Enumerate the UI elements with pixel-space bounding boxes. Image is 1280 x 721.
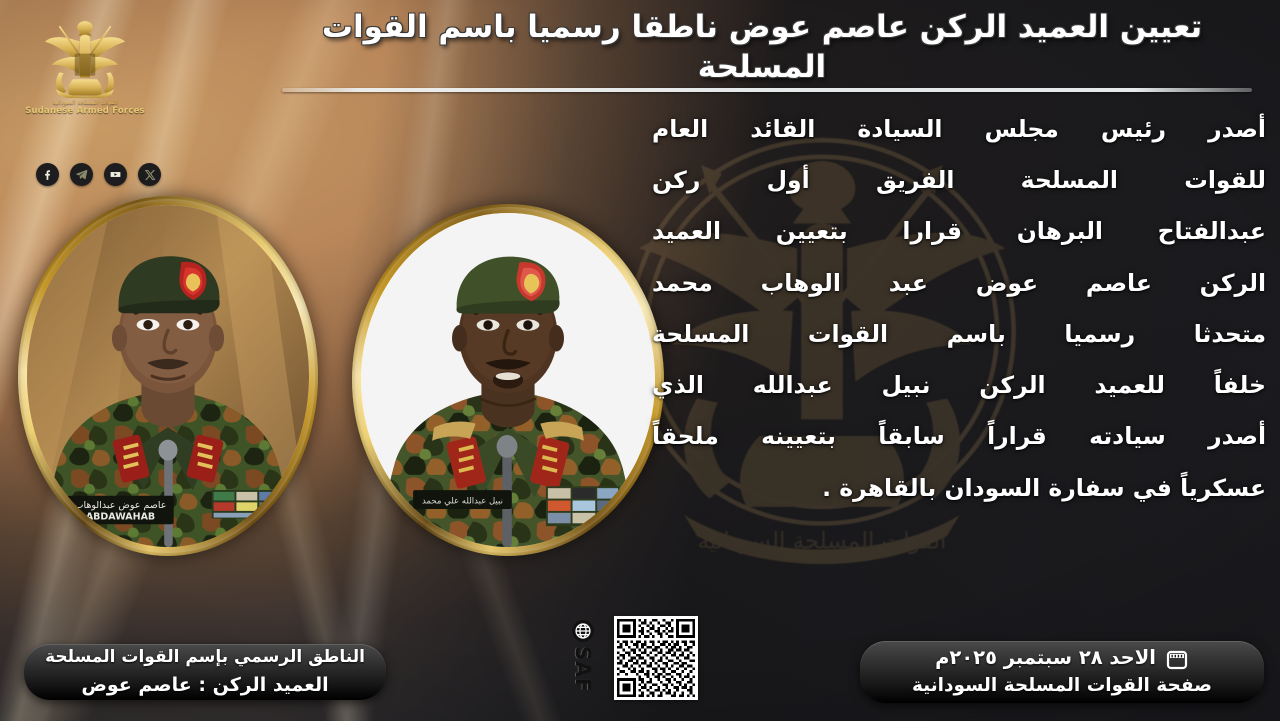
announcement-card: القوات المسلحة السودانية <box>0 0 1280 721</box>
spokesman-title: الناطق الرسمي بإسم القوات المسلحة <box>45 645 365 671</box>
body-line: عبدالفتاح البرهان قرارا بتعيين العميد <box>652 206 1266 257</box>
spokesman-name: العميد الركن : عاصم عوض <box>81 671 328 700</box>
publication-date: الاحد ٢٨ سبتمبر ٢٠٢٥م <box>935 644 1156 672</box>
headline-text: تعيين العميد الركن عاصم عوض ناطقا رسميا … <box>322 9 1202 85</box>
social-links <box>36 163 161 186</box>
body-line: أصدر سيادته قراراً سابقاً بتعيينه ملحقاً <box>652 411 1266 462</box>
saf-crest: القوات المسلحة السودانية Sudanese Armed … <box>24 16 146 128</box>
date-plaque: الاحد ٢٨ سبتمبر ٢٠٢٥م صفحة القوات المسلح… <box>860 641 1264 703</box>
body-line: متحدثا رسميا باسم القوات المسلحة <box>652 309 1266 360</box>
svg-text:ABDAWAHAB: ABDAWAHAB <box>86 511 155 522</box>
calendar-icon <box>1165 647 1189 671</box>
globe-icon <box>570 618 596 644</box>
qr-block: SAF <box>570 616 698 700</box>
crest-english-label: Sudanese Armed Forces <box>24 106 146 116</box>
officer-photo-left: عاصم عوض عبدالوهاب ABDAWAHAB <box>27 205 309 547</box>
x-twitter-icon[interactable] <box>138 163 161 186</box>
saf-web-mark: SAF <box>570 618 596 693</box>
saf-label: SAF <box>573 646 593 693</box>
body-line: الركن عاصم عوض عبد الوهاب محمد <box>652 258 1266 309</box>
announcement-body: أصدر رئيس مجلس السيادة القائد العام للقو… <box>652 104 1266 514</box>
svg-text:نبيل عبدالله علي محمد: نبيل عبدالله علي محمد <box>422 496 503 506</box>
page-name: صفحة القوات المسلحة السودانية <box>912 673 1212 700</box>
telegram-icon[interactable] <box>70 163 93 186</box>
sudanese-armed-forces-eagle-emblem <box>42 16 128 98</box>
body-line: للقوات المسلحة الفريق أول ركن <box>652 155 1266 206</box>
body-line: أصدر رئيس مجلس السيادة القائد العام <box>652 104 1266 155</box>
spokesman-plaque: الناطق الرسمي بإسم القوات المسلحة العميد… <box>24 644 386 700</box>
page-title: تعيين العميد الركن عاصم عوض ناطقا رسميا … <box>256 8 1268 87</box>
portrait-left: عاصم عوض عبدالوهاب ABDAWAHAB <box>18 196 318 556</box>
youtube-icon[interactable] <box>104 163 127 186</box>
facebook-icon[interactable] <box>36 163 59 186</box>
svg-text:عاصم عوض عبدالوهاب: عاصم عوض عبدالوهاب <box>75 500 167 511</box>
body-line: خلفاً للعميد الركن نبيل عبدالله الذي <box>652 360 1266 411</box>
qr-code[interactable] <box>614 616 698 700</box>
body-line: عسكرياً في سفارة السودان بالقاهرة . <box>652 463 1266 514</box>
officer-photo-right: نبيل عبدالله علي محمد <box>361 213 655 547</box>
crest-arabic-label: القوات المسلحة السودانية <box>24 99 146 106</box>
header-divider <box>282 88 1252 92</box>
portrait-right: نبيل عبدالله علي محمد <box>352 204 664 556</box>
